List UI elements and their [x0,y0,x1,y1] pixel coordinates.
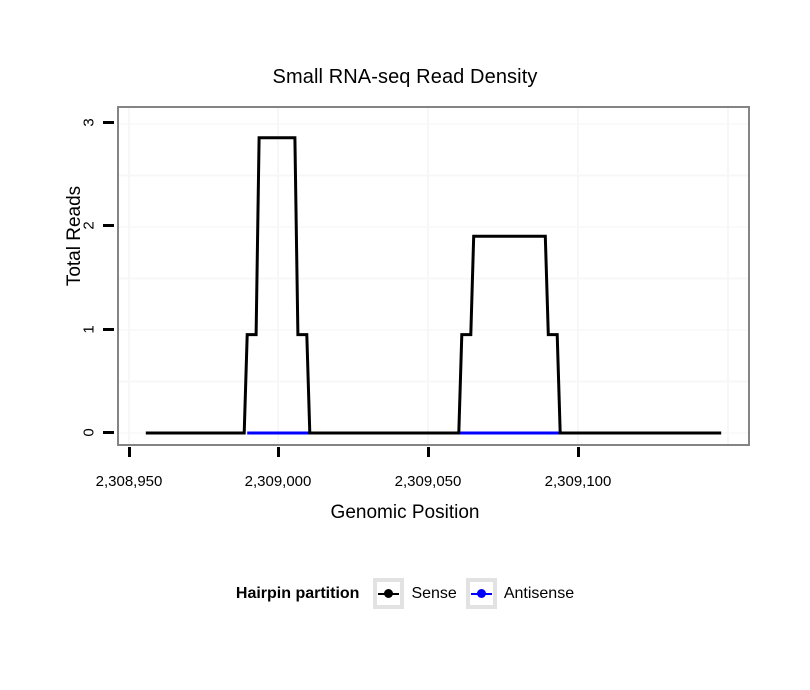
x-tick-mark-1 [277,447,280,457]
legend-title: Hairpin partition [236,585,360,603]
legend-label-antisense: Antisense [504,585,574,603]
legend-item-sense[interactable]: Sense [373,578,456,609]
y-tick-label-1: 1 [81,320,98,340]
x-axis-title: Genomic Position [0,502,810,524]
y-tick-label-0: 0 [81,423,98,443]
line-point-key-icon-antisense [466,578,497,609]
chart-title: Small RNA-seq Read Density [0,66,810,89]
series-line-sense [146,138,721,433]
grid-minor-horizontal [119,176,748,382]
plot-panel [117,106,750,446]
y-tick-mark-1 [103,328,114,331]
y-tick-mark-2 [103,224,114,227]
y-tick-mark-0 [103,431,114,434]
x-tick-label-3: 2,309,100 [518,473,638,490]
y-tick-label-2: 2 [81,216,98,236]
y-tick-mark-3 [103,121,114,124]
x-tick-mark-2 [427,447,430,457]
x-tick-label-1: 2,309,000 [218,473,338,490]
legend-label-sense: Sense [411,585,456,603]
x-tick-label-2: 2,309,050 [368,473,488,490]
x-tick-mark-0 [128,447,131,457]
x-tick-mark-3 [577,447,580,457]
chart-figure: Small RNA-seq Read Density Total Reads 3… [0,0,810,690]
grid-vertical [129,108,728,444]
x-tick-label-0: 2,308,950 [69,473,189,490]
y-tick-label-3: 3 [81,113,98,133]
line-point-key-icon-sense [373,578,404,609]
plot-canvas [119,108,748,444]
y-axis-title: Total Reads [64,156,86,316]
legend-item-antisense[interactable]: Antisense [466,578,574,609]
chart-legend: Hairpin partition Sense Antisense [0,578,810,609]
